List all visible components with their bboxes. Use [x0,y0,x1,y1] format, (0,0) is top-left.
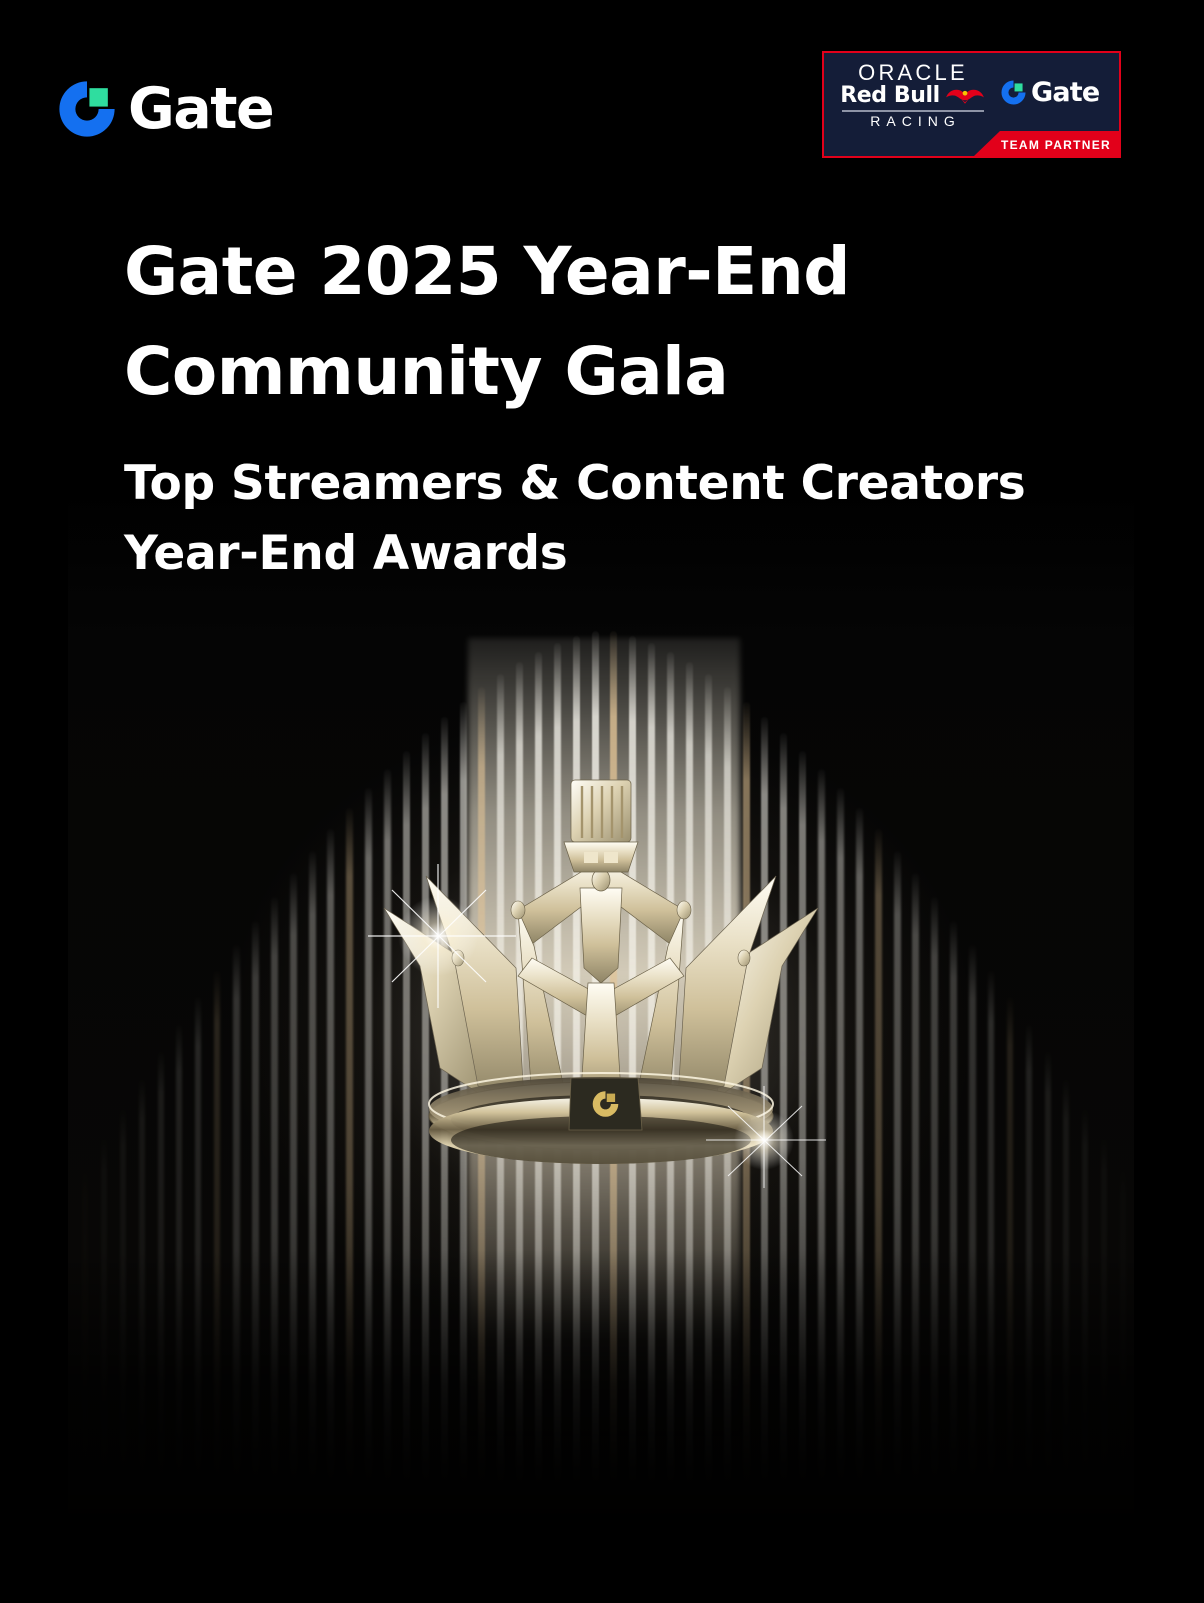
red-bull-label: Red Bull [840,85,940,107]
gate-logo-icon [1000,79,1027,106]
badge-divider [842,110,984,112]
page-header: Gate ORACLE Red Bull [0,0,1204,168]
badge-gate-logo: Gate [1000,79,1099,106]
crown-trophy [366,768,836,1188]
promo-page: Gate ORACLE Red Bull [0,0,1204,1603]
card-footer-spacer [68,1533,1134,1603]
gate-logo-icon [56,78,118,140]
gate-logo-emblem-icon [569,1078,642,1130]
gate-brand-logo[interactable]: Gate [56,78,273,140]
red-bull-racing-lockup: ORACLE Red Bull RACING [838,61,988,129]
badge-gate-wordmark: Gate [1031,79,1099,106]
oracle-label: ORACLE [838,61,988,84]
red-bull-row: Red Bull [838,85,988,107]
page-subtitle: Top Streamers & Content Creators Year-En… [124,449,1078,590]
racing-label: RACING [838,114,988,129]
page-title: Gate 2025 Year-End Community Gala [124,222,1078,423]
hero-bottom-gradient [68,1250,1134,1550]
red-bull-charging-bulls-icon [944,86,986,106]
oracle-red-bull-racing-partner-badge[interactable]: ORACLE Red Bull RACING [822,51,1121,158]
gate-wordmark: Gate [128,81,273,138]
event-card: Gate 2025 Year-End Community Gala Top St… [68,168,1134,1603]
card-text-block: Gate 2025 Year-End Community Gala Top St… [68,168,1134,590]
partner-badge-inner: ORACLE Red Bull RACING [824,53,1119,156]
team-partner-label: TEAM PARTNER [1001,138,1111,152]
team-partner-ribbon: TEAM PARTNER [824,131,1121,156]
